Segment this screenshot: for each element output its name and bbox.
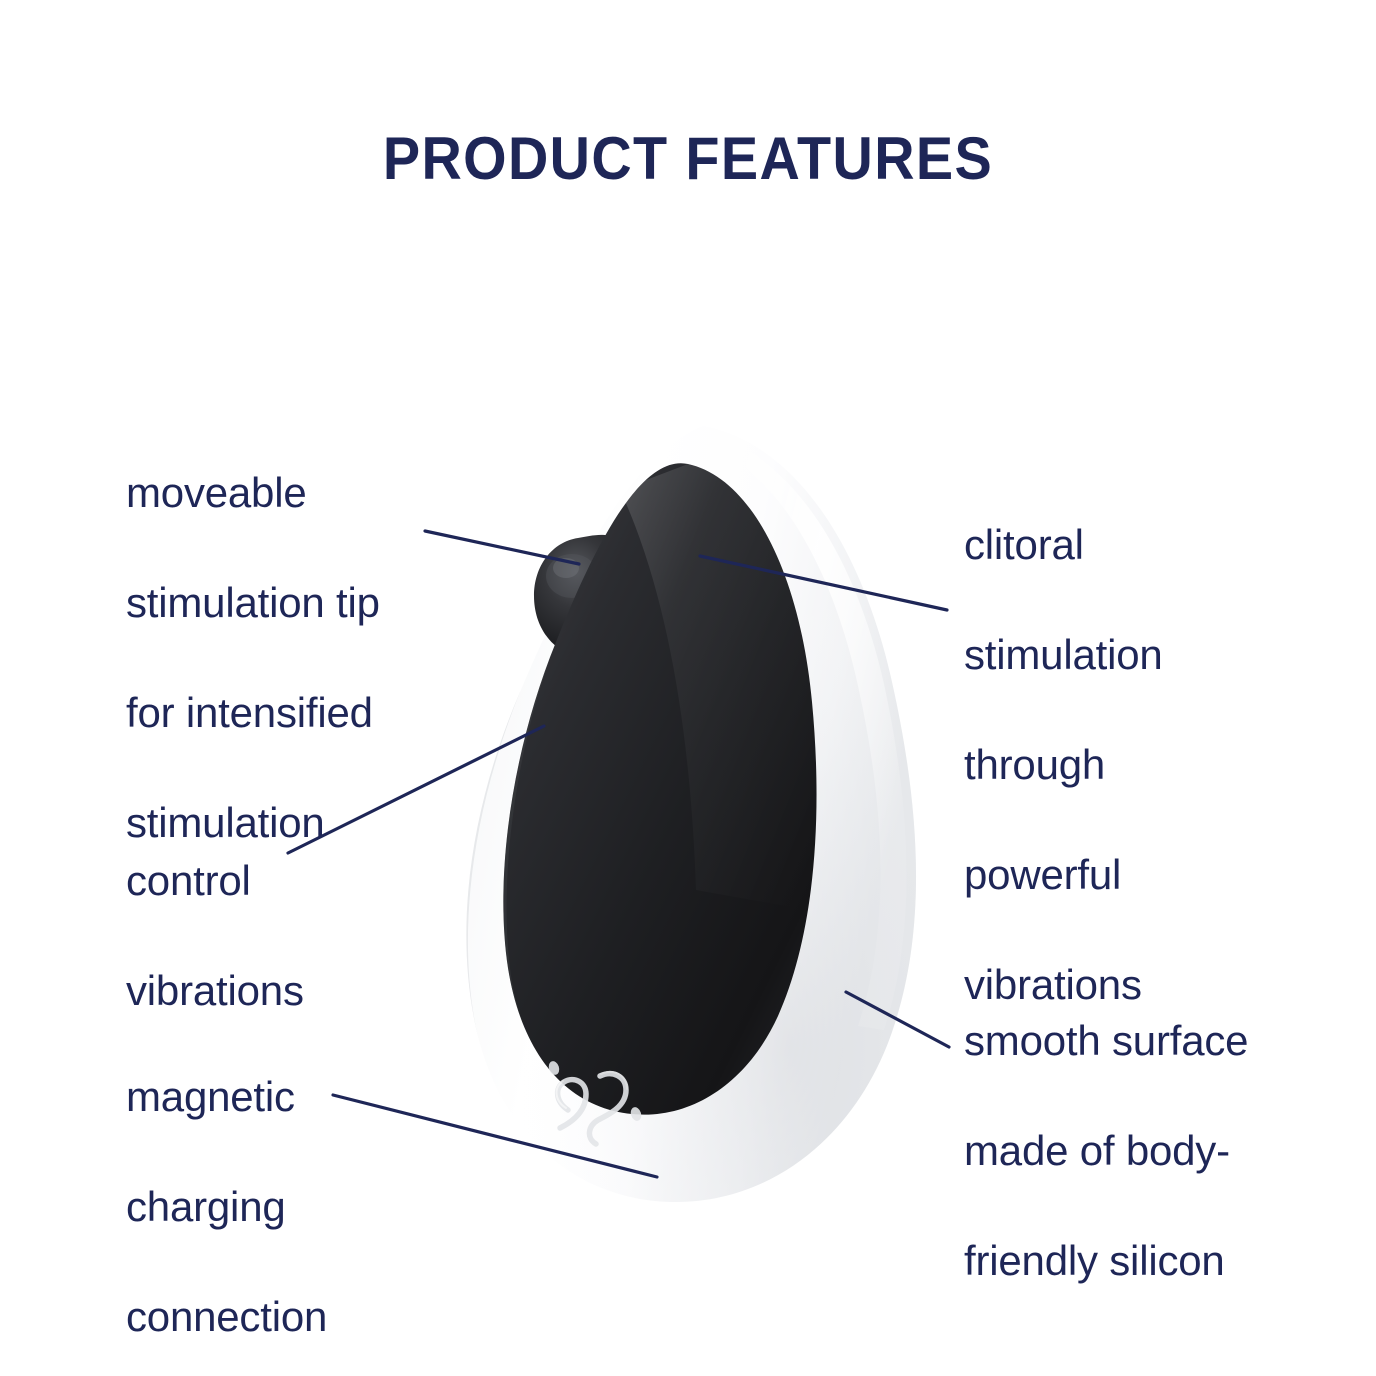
callout-line: for intensified	[126, 685, 486, 740]
callout-line: smooth surface	[964, 1013, 1304, 1068]
product-illustration	[460, 420, 930, 1210]
callout-line: moveable	[126, 465, 486, 520]
callout-line: magnetic	[126, 1069, 456, 1124]
callout-line: powerful	[964, 847, 1294, 902]
callout-line: vibrations	[126, 963, 446, 1018]
callout-line: friendly silicon	[964, 1233, 1304, 1288]
callout-line: made of body-	[964, 1123, 1304, 1178]
callout-line: stimulation	[964, 627, 1294, 682]
callout-line: clitoral	[964, 517, 1294, 572]
callout-smooth-surface: smooth surface made of body- friendly si…	[964, 958, 1304, 1343]
product-features-infographic: PRODUCT FEATURES	[0, 0, 1376, 1376]
callout-line: stimulation tip	[126, 575, 486, 630]
callout-line: charging	[126, 1179, 456, 1234]
callout-line: connection	[126, 1289, 456, 1344]
page-title: PRODUCT FEATURES	[48, 124, 1328, 193]
product-black-panel	[478, 463, 817, 1114]
callout-line: through	[964, 737, 1294, 792]
callout-magnetic-charging-connection: magnetic charging connection	[126, 1014, 456, 1376]
callout-line: control	[126, 853, 446, 908]
